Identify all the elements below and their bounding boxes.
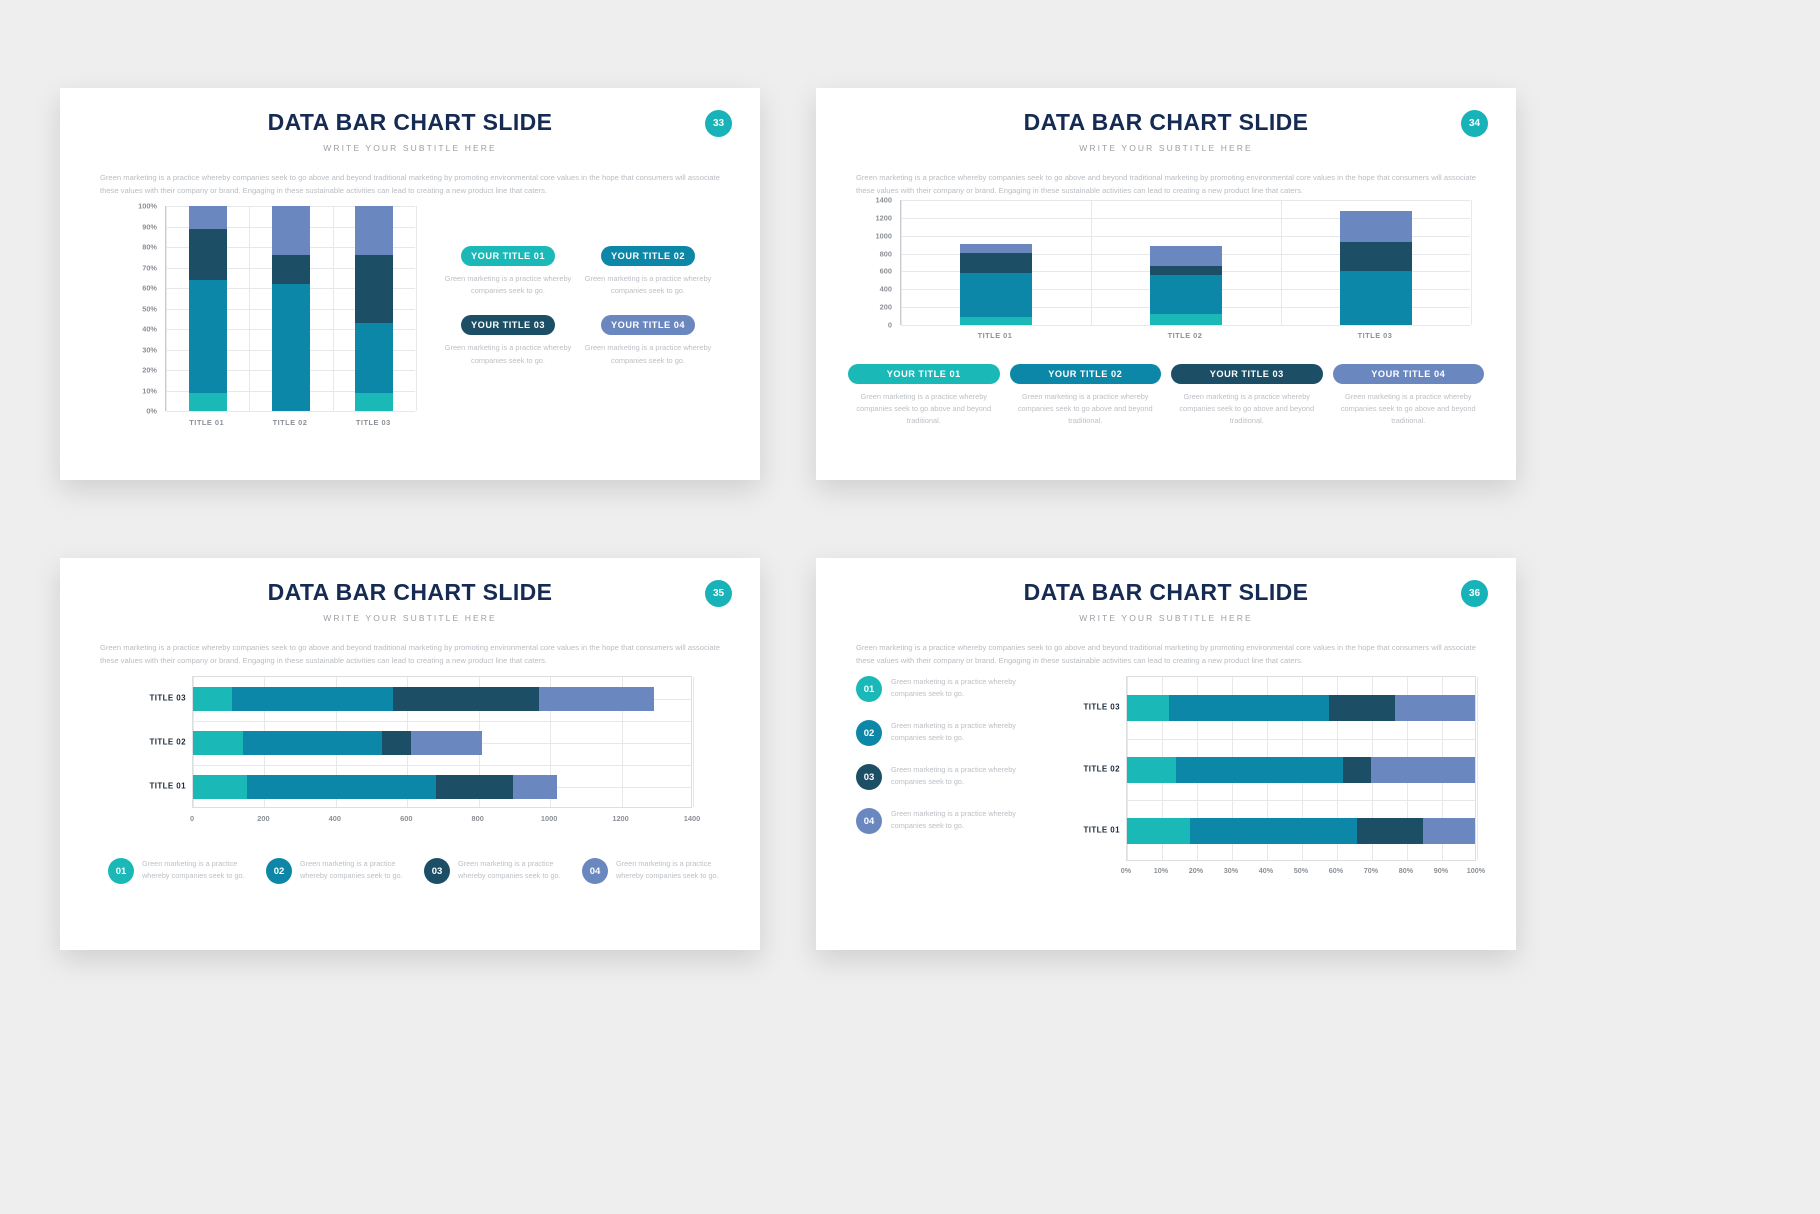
bar-row (1127, 818, 1475, 844)
plot-area (165, 206, 415, 411)
legend-item: YOUR TITLE 01Green marketing is a practi… (848, 364, 1000, 428)
page-subtitle: WRITE YOUR SUBTITLE HERE (816, 143, 1516, 153)
x-tick-label: 0 (190, 814, 194, 823)
x-tick-label: 80% (1399, 866, 1413, 875)
grid-line-v (1471, 200, 1472, 325)
legend-pill-1[interactable]: YOUR TITLE 01 (461, 246, 555, 266)
bar-segment (393, 687, 539, 711)
horizontal-stacked-percent-bar-chart: 0%10%20%30%40%50%60%70%80%90%100% TITLE … (1064, 676, 1484, 886)
x-tick-label: 70% (1364, 866, 1378, 875)
bar-segment (355, 323, 393, 393)
y-tick-label: 800 (880, 249, 892, 258)
plot-area (192, 676, 692, 808)
y-tick-label: 40% (142, 325, 157, 334)
legend-item: 04Green marketing is a practice whereby … (856, 808, 1046, 834)
page-number-badge: 35 (705, 580, 732, 607)
y-tick-label: 200 (880, 303, 892, 312)
x-tick-label: 20% (1189, 866, 1203, 875)
chart-legend: YOUR TITLE 01Green marketing is a practi… (848, 364, 1484, 428)
bar-segment (1371, 757, 1475, 783)
slide-36[interactable]: DATA BAR CHART SLIDE WRITE YOUR SUBTITLE… (816, 558, 1516, 950)
x-tick-label: 90% (1434, 866, 1448, 875)
bar-segment (355, 393, 393, 411)
bar-segment (1176, 757, 1343, 783)
bar-segment (189, 393, 227, 411)
grid-line-v (693, 677, 694, 807)
y-tick-label: TITLE 03 (1064, 702, 1120, 711)
grid-line-h (1127, 800, 1475, 801)
bar-segment (960, 253, 1032, 274)
legend-description: Green marketing is a practice whereby co… (578, 273, 718, 297)
bar-segment (436, 775, 513, 799)
bar-row (193, 775, 557, 799)
x-tick-label: 40% (1259, 866, 1273, 875)
x-tick-label: 10% (1154, 866, 1168, 875)
bar-segment (247, 775, 436, 799)
bar-segment (232, 687, 393, 711)
legend-description: Green marketing is a practice whereby co… (142, 858, 254, 881)
y-tick-label: TITLE 02 (104, 738, 186, 747)
intro-paragraph: Green marketing is a practice whereby co… (100, 641, 720, 668)
legend-item: YOUR TITLE 02Green marketing is a practi… (1010, 364, 1162, 428)
legend-description: Green marketing is a practice whereby co… (891, 764, 1046, 787)
bar-segment (193, 687, 232, 711)
y-tick-label: 60% (142, 284, 157, 293)
legend-pill-2[interactable]: YOUR TITLE 02 (1010, 364, 1162, 384)
y-tick-label: 1200 (876, 213, 892, 222)
bar-segment (1357, 818, 1423, 844)
x-tick-label: TITLE 03 (1358, 331, 1393, 340)
y-tick-label: TITLE 03 (104, 694, 186, 703)
grid-line-h (1127, 739, 1475, 740)
legend-description: Green marketing is a practice whereby co… (438, 342, 578, 366)
legend-item: YOUR TITLE 02Green marketing is a practi… (578, 246, 718, 297)
grid-line-v (1091, 200, 1092, 325)
page-title: DATA BAR CHART SLIDE (60, 579, 760, 606)
bar-segment (189, 206, 227, 229)
grid-line-v (1477, 677, 1478, 860)
grid-line-v (249, 206, 250, 411)
x-tick-label: TITLE 02 (273, 418, 308, 427)
y-tick-label: 20% (142, 366, 157, 375)
legend-item: YOUR TITLE 01Green marketing is a practi… (438, 246, 578, 297)
legend-pill-3[interactable]: YOUR TITLE 03 (461, 315, 555, 335)
y-tick-label: 30% (142, 345, 157, 354)
legend-number-badge-01[interactable]: 01 (108, 858, 134, 884)
legend-number-badge-04[interactable]: 04 (856, 808, 882, 834)
y-tick-label: 90% (142, 222, 157, 231)
grid-line-v (416, 206, 417, 411)
legend-description: Green marketing is a practice whereby co… (438, 273, 578, 297)
legend-pill-4[interactable]: YOUR TITLE 04 (601, 315, 695, 335)
legend-number-badge-01[interactable]: 01 (856, 676, 882, 702)
legend-description: Green marketing is a practice whereby co… (300, 858, 412, 881)
bar-column (960, 244, 1032, 325)
legend-number-badge-02[interactable]: 02 (856, 720, 882, 746)
bar-segment (355, 255, 393, 323)
bar-column (1340, 211, 1412, 325)
bar-row (1127, 757, 1475, 783)
legend-number-badge-03[interactable]: 03 (856, 764, 882, 790)
legend-item: 02Green marketing is a practice whereby … (856, 720, 1046, 746)
bar-segment (1150, 275, 1222, 314)
bar-segment (960, 317, 1032, 325)
bar-segment (243, 731, 382, 755)
page-subtitle: WRITE YOUR SUBTITLE HERE (60, 143, 760, 153)
y-tick-label: 0% (146, 407, 157, 416)
y-tick-label: TITLE 01 (104, 782, 186, 791)
legend-item: 03Green marketing is a practice whereby … (424, 858, 570, 884)
bar-segment (1343, 757, 1371, 783)
bar-column (1150, 246, 1222, 325)
legend-item: 01Green marketing is a practice whereby … (856, 676, 1046, 702)
x-tick-label: TITLE 01 (978, 331, 1013, 340)
grid-line-v (901, 200, 902, 325)
legend-pill-3[interactable]: YOUR TITLE 03 (1171, 364, 1323, 384)
y-tick-label: 80% (142, 243, 157, 252)
page-title: DATA BAR CHART SLIDE (60, 109, 760, 136)
legend-item: YOUR TITLE 03Green marketing is a practi… (1171, 364, 1323, 428)
bar-segment (1127, 757, 1176, 783)
bar-segment (272, 284, 310, 411)
bar-segment (539, 687, 653, 711)
bar-segment (1395, 695, 1475, 721)
y-tick-label: 1400 (876, 196, 892, 205)
grid-line-v (166, 206, 167, 411)
bar-segment (1150, 246, 1222, 266)
plot-area (900, 200, 1470, 325)
y-tick-label: 100% (138, 202, 157, 211)
bar-segment (193, 731, 243, 755)
legend-description: Green marketing is a practice whereby co… (1333, 391, 1485, 428)
slide-35[interactable]: DATA BAR CHART SLIDE WRITE YOUR SUBTITLE… (60, 558, 760, 950)
grid-line-h (166, 411, 415, 412)
legend-item: YOUR TITLE 04Green marketing is a practi… (1333, 364, 1485, 428)
stacked-bar-chart: 0200400600800100012001400 TITLE 01TITLE … (852, 200, 1482, 350)
legend-description: Green marketing is a practice whereby co… (578, 342, 718, 366)
y-tick-label: 1000 (876, 231, 892, 240)
legend-item: 04Green marketing is a practice whereby … (582, 858, 728, 884)
x-tick-label: 800 (472, 814, 484, 823)
legend-item: YOUR TITLE 03Green marketing is a practi… (438, 315, 578, 366)
bar-segment (1423, 818, 1475, 844)
slide-33[interactable]: DATA BAR CHART SLIDE WRITE YOUR SUBTITLE… (60, 88, 760, 480)
legend-pill-2[interactable]: YOUR TITLE 02 (601, 246, 695, 266)
legend-pill-4[interactable]: YOUR TITLE 04 (1333, 364, 1485, 384)
page-number-badge: 34 (1461, 110, 1488, 137)
grid-line-h (901, 325, 1470, 326)
x-tick-label: 1400 (684, 814, 700, 823)
bar-segment (1340, 271, 1412, 325)
page-subtitle: WRITE YOUR SUBTITLE HERE (60, 613, 760, 623)
legend-description: Green marketing is a practice whereby co… (891, 720, 1046, 743)
bar-segment (272, 255, 310, 284)
bar-column (272, 206, 310, 411)
x-tick-label: 200 (257, 814, 269, 823)
legend-item: 03Green marketing is a practice whereby … (856, 764, 1046, 790)
x-tick-label: 50% (1294, 866, 1308, 875)
bar-segment (193, 775, 247, 799)
legend-description: Green marketing is a practice whereby co… (616, 858, 728, 881)
intro-paragraph: Green marketing is a practice whereby co… (100, 171, 720, 198)
grid-line-h (193, 765, 691, 766)
bar-row (193, 687, 654, 711)
y-axis-ticks: 0200400600800100012001400 (852, 200, 896, 325)
x-axis-ticks: TITLE 01TITLE 02TITLE 03 (900, 331, 1470, 345)
page-number-badge: 36 (1461, 580, 1488, 607)
page-title: DATA BAR CHART SLIDE (816, 109, 1516, 136)
grid-line-v (1281, 200, 1282, 325)
legend-description: Green marketing is a practice whereby co… (891, 676, 1046, 699)
bar-segment (960, 244, 1032, 253)
bar-segment (189, 229, 227, 280)
bar-column (355, 206, 393, 411)
y-axis-ticks: 0%10%20%30%40%50%60%70%80%90%100% (107, 206, 161, 411)
bar-segment (513, 775, 558, 799)
bar-segment (189, 280, 227, 393)
page-subtitle: WRITE YOUR SUBTITLE HERE (816, 613, 1516, 623)
x-axis-ticks: 0%10%20%30%40%50%60%70%80%90%100% (1126, 866, 1476, 880)
bar-segment (355, 206, 393, 255)
bar-segment (1169, 695, 1329, 721)
y-tick-label: 0 (888, 321, 892, 330)
legend-description: Green marketing is a practice whereby co… (1171, 391, 1323, 428)
horizontal-stacked-bar-chart: 0200400600800100012001400 TITLE 03TITLE … (104, 676, 724, 836)
bar-segment (1150, 314, 1222, 325)
legend-description: Green marketing is a practice whereby co… (848, 391, 1000, 428)
chart-legend: 01Green marketing is a practice whereby … (856, 676, 1046, 852)
x-tick-label: TITLE 01 (189, 418, 224, 427)
x-axis-ticks: 0200400600800100012001400 (192, 814, 692, 828)
bar-column (189, 206, 227, 411)
grid-line-h (901, 200, 1470, 201)
y-tick-label: 10% (142, 386, 157, 395)
intro-paragraph: Green marketing is a practice whereby co… (856, 171, 1476, 198)
x-tick-label: 400 (329, 814, 341, 823)
x-tick-label: TITLE 02 (1168, 331, 1203, 340)
legend-item: YOUR TITLE 04Green marketing is a practi… (578, 315, 718, 366)
plot-area (1126, 676, 1476, 861)
bar-segment (960, 273, 1032, 317)
chart-legend: YOUR TITLE 01Green marketing is a practi… (438, 246, 728, 385)
bar-segment (1150, 266, 1222, 276)
slide-deck-canvas: DATA BAR CHART SLIDE WRITE YOUR SUBTITLE… (0, 0, 1820, 1214)
page-title: DATA BAR CHART SLIDE (816, 579, 1516, 606)
y-tick-label: 600 (880, 267, 892, 276)
x-axis-ticks: TITLE 01TITLE 02TITLE 03 (165, 418, 415, 432)
bar-segment (272, 206, 310, 255)
chart-legend: 01Green marketing is a practice whereby … (108, 858, 728, 884)
x-tick-label: TITLE 03 (356, 418, 391, 427)
legend-number-badge-03[interactable]: 03 (424, 858, 450, 884)
bar-segment (1127, 695, 1169, 721)
y-tick-label: 400 (880, 285, 892, 294)
bar-segment (411, 731, 482, 755)
legend-description: Green marketing is a practice whereby co… (458, 858, 570, 881)
bar-segment (1340, 242, 1412, 271)
x-tick-label: 30% (1224, 866, 1238, 875)
legend-description: Green marketing is a practice whereby co… (891, 808, 1046, 831)
bar-segment (1190, 818, 1357, 844)
bar-row (193, 731, 482, 755)
legend-item: 02Green marketing is a practice whereby … (266, 858, 412, 884)
x-tick-label: 60% (1329, 866, 1343, 875)
stacked-percent-bar-chart: 0%10%20%30%40%50%60%70%80%90%100% TITLE … (107, 206, 427, 426)
bar-row (1127, 695, 1475, 721)
y-tick-label: 70% (142, 263, 157, 272)
bar-segment (1340, 211, 1412, 242)
x-tick-label: 1000 (541, 814, 557, 823)
legend-description: Green marketing is a practice whereby co… (1010, 391, 1162, 428)
x-tick-label: 100% (1467, 866, 1485, 875)
slide-34[interactable]: DATA BAR CHART SLIDE WRITE YOUR SUBTITLE… (816, 88, 1516, 480)
bar-segment (1127, 818, 1190, 844)
y-tick-label: 50% (142, 304, 157, 313)
legend-number-badge-04[interactable]: 04 (582, 858, 608, 884)
x-tick-label: 600 (400, 814, 412, 823)
page-number-badge: 33 (705, 110, 732, 137)
x-tick-label: 0% (1121, 866, 1131, 875)
y-tick-label: TITLE 02 (1064, 764, 1120, 773)
legend-number-badge-02[interactable]: 02 (266, 858, 292, 884)
bar-segment (1329, 695, 1395, 721)
y-tick-label: TITLE 01 (1064, 826, 1120, 835)
intro-paragraph: Green marketing is a practice whereby co… (856, 641, 1476, 668)
legend-item: 01Green marketing is a practice whereby … (108, 858, 254, 884)
grid-line-h (193, 721, 691, 722)
grid-line-v (333, 206, 334, 411)
bar-segment (382, 731, 411, 755)
legend-pill-1[interactable]: YOUR TITLE 01 (848, 364, 1000, 384)
x-tick-label: 1200 (612, 814, 628, 823)
